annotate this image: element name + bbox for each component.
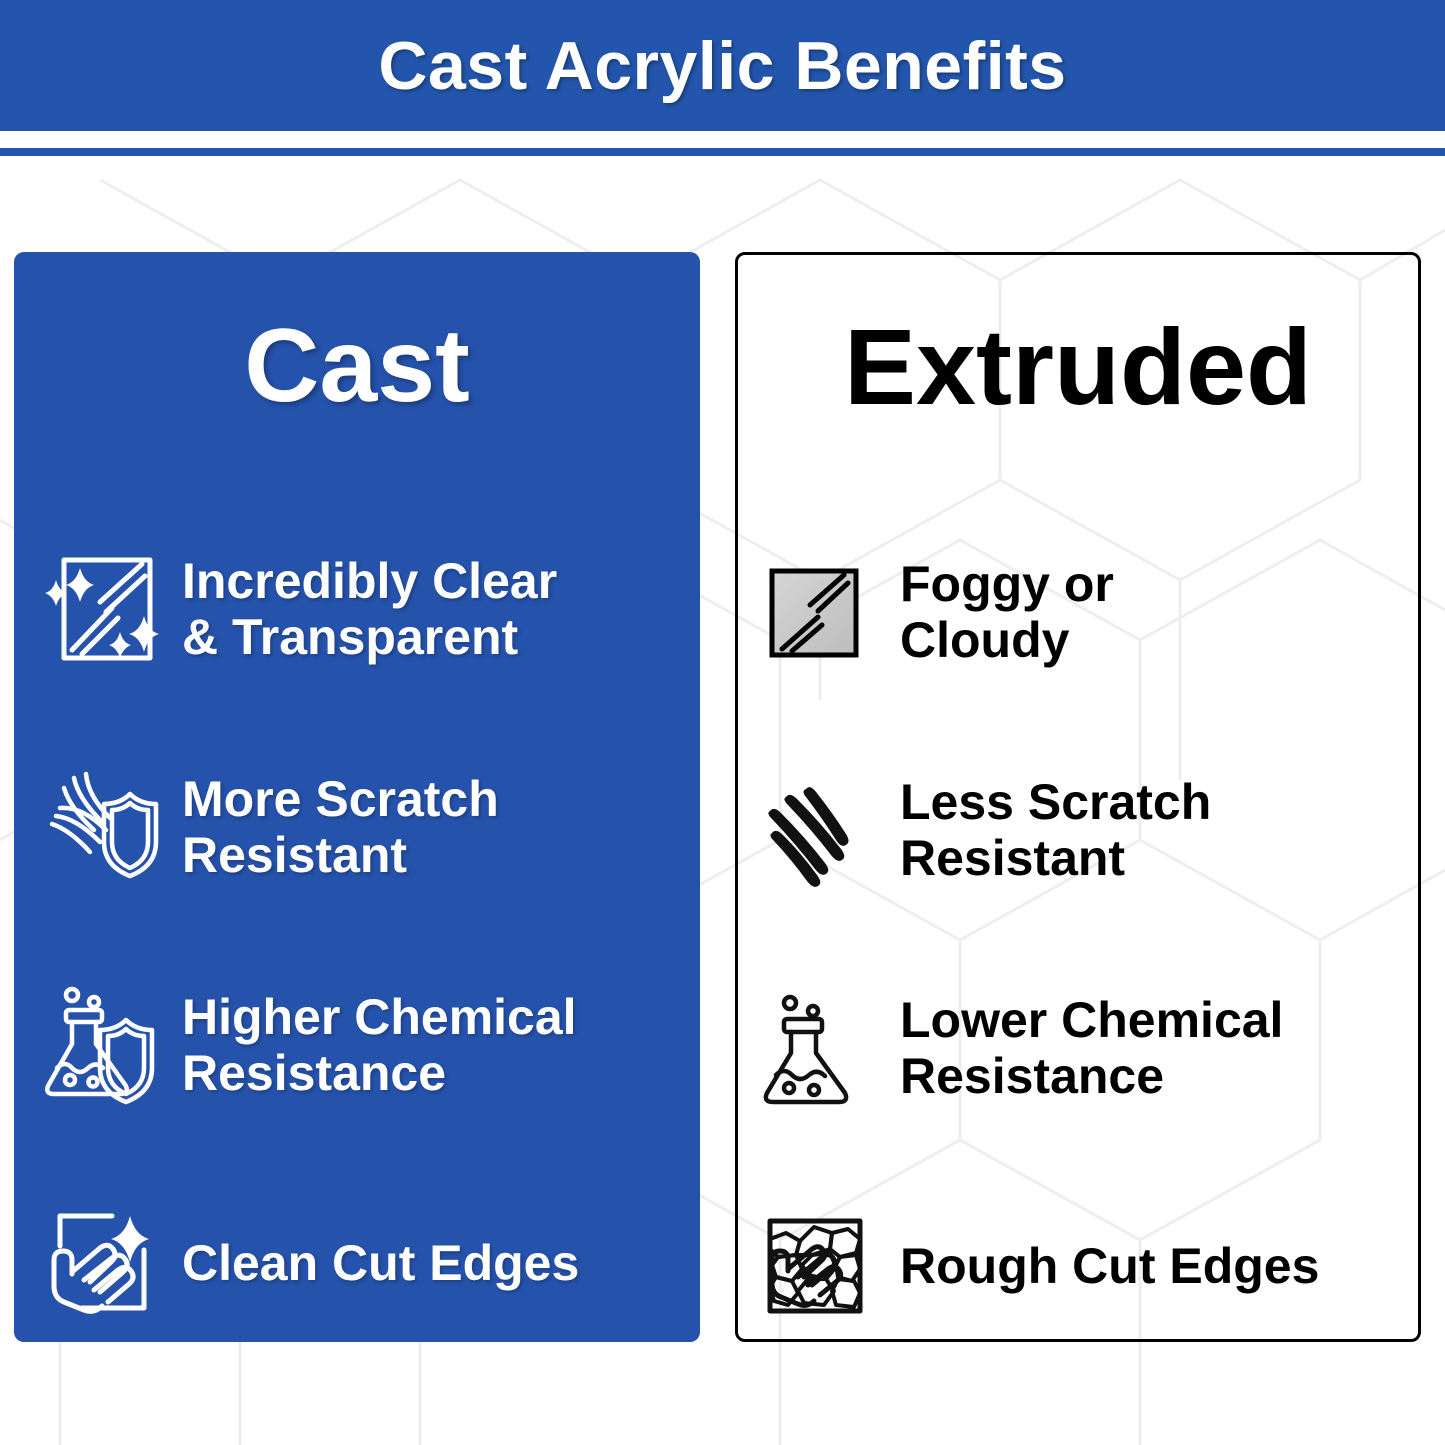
clean-edge-wipe-icon (38, 1200, 164, 1326)
feature-row: Rough Cut Edges (738, 1157, 1418, 1375)
feature-label: Higher Chemical Resistance (182, 989, 577, 1101)
feature-label-line1: More Scratch (182, 771, 499, 827)
feature-label-line1: Incredibly Clear (182, 553, 557, 609)
feature-label-line2: Cloudy (900, 612, 1114, 668)
comparison-panels: Cast (0, 0, 1445, 1445)
feature-row: Higher Chemical Resistance (14, 936, 700, 1154)
feature-label: More Scratch Resistant (182, 771, 499, 883)
feature-label: Incredibly Clear & Transparent (182, 553, 557, 665)
panel-cast: Cast (14, 252, 700, 1342)
foggy-glass-icon (756, 553, 874, 671)
flask-shield-icon (38, 982, 164, 1108)
feature-label-line1: Rough Cut Edges (900, 1241, 1319, 1291)
clear-glass-sparkle-icon (38, 546, 164, 672)
feature-label: Foggy or Cloudy (900, 556, 1114, 668)
feature-row: Foggy or Cloudy (738, 503, 1418, 721)
feature-row: Clean Cut Edges (14, 1154, 700, 1372)
feature-label-line2: Resistant (900, 830, 1211, 886)
panel-cast-title: Cast (14, 314, 700, 418)
scratch-marks-icon (756, 771, 874, 889)
scratch-shield-icon (38, 764, 164, 890)
feature-label-line1: Clean Cut Edges (182, 1238, 579, 1288)
feature-label-line2: Resistant (182, 827, 499, 883)
feature-label-line2: Resistance (900, 1048, 1283, 1104)
feature-label: Less Scratch Resistant (900, 774, 1211, 886)
feature-row: Incredibly Clear & Transparent (14, 500, 700, 718)
feature-label: Lower Chemical Resistance (900, 992, 1283, 1104)
page-title: Cast Acrylic Benefits (378, 27, 1066, 105)
feature-row: Less Scratch Resistant (738, 721, 1418, 939)
feature-label-line1: Higher Chemical (182, 989, 577, 1045)
flask-icon (756, 989, 874, 1107)
panel-extruded-title: Extruded (738, 313, 1418, 421)
panel-cast-feature-list: Incredibly Clear & Transparent (14, 500, 700, 1372)
feature-label-line1: Less Scratch (900, 774, 1211, 830)
feature-label-line2: Resistance (182, 1045, 577, 1101)
feature-label: Clean Cut Edges (182, 1238, 579, 1288)
panel-extruded: Extruded (735, 252, 1421, 1342)
feature-label-line1: Foggy or (900, 556, 1114, 612)
feature-label-line2: & Transparent (182, 609, 557, 665)
header-band: Cast Acrylic Benefits (0, 0, 1445, 131)
panel-extruded-feature-list: Foggy or Cloudy (738, 503, 1418, 1375)
header-divider-rule (0, 148, 1445, 156)
rough-edge-texture-icon (756, 1207, 874, 1325)
feature-label-line1: Lower Chemical (900, 992, 1283, 1048)
feature-label: Rough Cut Edges (900, 1241, 1319, 1291)
feature-row: Lower Chemical Resistance (738, 939, 1418, 1157)
feature-row: More Scratch Resistant (14, 718, 700, 936)
